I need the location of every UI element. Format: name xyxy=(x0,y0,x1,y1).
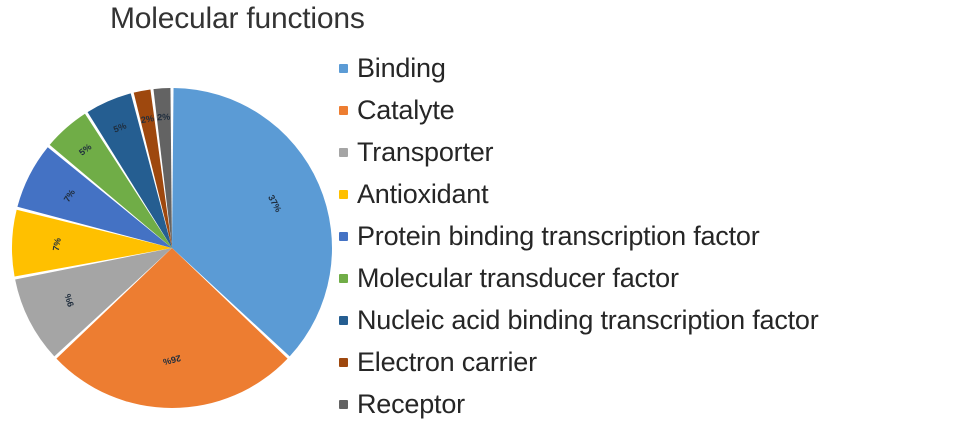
pie-chart-figure: Molecular functions 37%26%9%7%7%5%5%2%2%… xyxy=(0,0,969,433)
legend-item[interactable]: Receptor xyxy=(339,383,964,425)
legend-item[interactable]: Binding xyxy=(339,47,964,89)
legend-item-label: Protein binding transcription factor xyxy=(357,223,760,250)
legend-swatch-icon xyxy=(339,190,348,199)
chart-legend: BindingCatalyteTransporterAntioxidantPro… xyxy=(339,47,964,425)
legend-item-label: Receptor xyxy=(357,391,465,418)
legend-swatch-icon xyxy=(339,232,348,241)
legend-swatch-icon xyxy=(339,148,348,157)
legend-item[interactable]: Molecular transducer factor xyxy=(339,257,964,299)
pie-slice-value-label: 7% xyxy=(51,237,63,251)
pie-svg: 37%26%9%7%7%5%5%2%2% xyxy=(0,78,345,423)
pie-slice-value-label: 2% xyxy=(157,112,171,123)
legend-swatch-icon xyxy=(339,316,348,325)
legend-item-label: Molecular transducer factor xyxy=(357,265,679,292)
legend-item-label: Nucleic acid binding transcription facto… xyxy=(357,307,819,334)
pie-plot-area: 37%26%9%7%7%5%5%2%2% xyxy=(0,78,345,423)
legend-swatch-icon xyxy=(339,358,348,367)
legend-item-label: Transporter xyxy=(357,139,493,166)
legend-swatch-icon xyxy=(339,274,348,283)
legend-item[interactable]: Nucleic acid binding transcription facto… xyxy=(339,299,964,341)
legend-item[interactable]: Electron carrier xyxy=(339,341,964,383)
legend-item-label: Catalyte xyxy=(357,97,454,124)
chart-title: Molecular functions xyxy=(110,2,365,36)
legend-swatch-icon xyxy=(339,64,348,73)
legend-item[interactable]: Protein binding transcription factor xyxy=(339,215,964,257)
legend-item[interactable]: Transporter xyxy=(339,131,964,173)
legend-swatch-icon xyxy=(339,400,348,409)
legend-item[interactable]: Catalyte xyxy=(339,89,964,131)
legend-item-label: Binding xyxy=(357,55,446,82)
legend-item-label: Antioxidant xyxy=(357,181,488,208)
legend-item[interactable]: Antioxidant xyxy=(339,173,964,215)
legend-swatch-icon xyxy=(339,106,348,115)
legend-item-label: Electron carrier xyxy=(357,349,537,376)
